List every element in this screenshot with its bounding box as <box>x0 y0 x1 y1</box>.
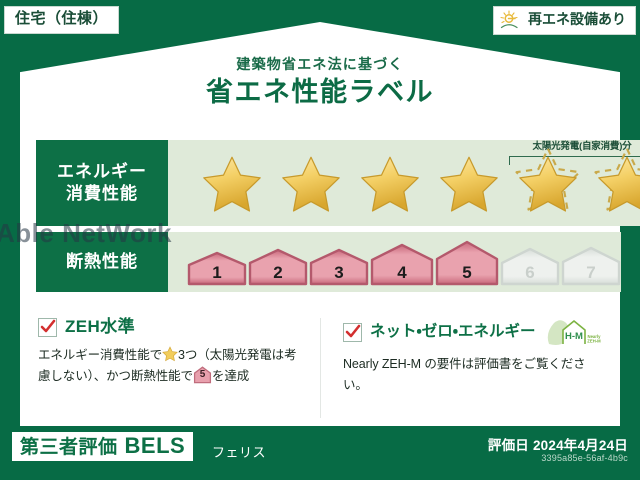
inline-house-number: 5 <box>193 367 212 384</box>
svg-text:ZEH-M: ZEH-M <box>587 339 601 344</box>
star-icon <box>435 153 503 217</box>
energy-label-root: 住宅（住棟） 再エネ設備あり <box>0 0 640 480</box>
bels-jp-label: 第三者評価 <box>20 438 118 457</box>
insulation-performance-label: 断熱性能 <box>36 232 168 292</box>
energy-label-line1: エネルギー <box>57 161 147 183</box>
title-main: 省エネ性能ラベル <box>0 77 640 108</box>
house-step-number: 7 <box>560 263 622 283</box>
zeh-note-head: ZEH水準 <box>38 318 306 337</box>
zeh-body-part3: を達成 <box>212 369 249 383</box>
energy-performance-body: 太陽光発電(自家消費)分 <box>168 140 640 226</box>
energy-performance-label: エネルギー 消費性能 <box>36 140 168 226</box>
bels-en-label: BELS <box>125 435 186 457</box>
notes-section: ZEH水準 エネルギー消費性能で3つ（太陽光発電は考慮しない）、かつ断熱性能で5… <box>20 318 620 418</box>
house-step-number: 6 <box>499 263 561 283</box>
house-step-inactive: 6 <box>499 246 561 286</box>
house-step-number: 2 <box>247 263 309 283</box>
building-type-label: 住宅（住棟） <box>15 10 108 27</box>
inline-star-icon <box>162 346 178 362</box>
nze-note-body: Nearly ZEH-M の要件は評価書をご覧ください。 <box>343 354 606 395</box>
insulation-performance-body: 1234567 <box>168 232 621 292</box>
building-type-badge: 住宅（住棟） <box>4 6 119 34</box>
nze-checkbox <box>343 323 362 342</box>
house-step-active: 3 <box>308 247 370 286</box>
renewable-equipment-badge: 再エネ設備あり <box>493 6 636 35</box>
zeh-m-logo: H-M Nearly ZEH-M <box>546 318 604 346</box>
title-subtitle: 建築物省エネ法に基づく <box>0 56 640 73</box>
star-icon <box>198 153 266 217</box>
house-step-inactive: 7 <box>560 245 622 286</box>
insulation-label-text: 断熱性能 <box>66 251 138 273</box>
svg-text:H-M: H-M <box>565 331 583 342</box>
energy-performance-row: エネルギー 消費性能 太陽光発電(自家消費)分 <box>36 140 604 226</box>
star-rating-strip <box>194 147 640 219</box>
star-filled <box>431 147 507 219</box>
footer: 第三者評価 BELS フェリス 評価日 2024年4月24日 3395a85e-… <box>0 426 640 480</box>
star-icon <box>593 153 640 217</box>
note-zeh-level: ZEH水準 エネルギー消費性能で3つ（太陽光発電は考慮しない）、かつ断熱性能で5… <box>20 318 320 418</box>
note-net-zero-energy: ネット・ゼロ・エネルギー H-M Nearly ZEH-M Nearly ZEH… <box>320 318 620 418</box>
bels-logo-box: 第三者評価 BELS <box>12 432 193 461</box>
renewable-badge-label: 再エネ設備あり <box>528 12 626 27</box>
inline-house-icon: 5 <box>193 366 212 383</box>
house-rating-strip: 1234567 <box>186 238 621 286</box>
header: 住宅（住棟） 再エネ設備あり <box>0 0 640 46</box>
zeh-body-part1: エネルギー消費性能で <box>38 348 162 362</box>
star-solar <box>589 147 640 219</box>
house-step-number: 4 <box>369 263 435 283</box>
evaluation-id: 3395a85e-56af-4b9c <box>541 453 628 463</box>
house-step-active: 1 <box>186 250 248 286</box>
evaluation-date: 評価日 2024年4月24日 <box>488 434 628 454</box>
energy-label-line2: 消費性能 <box>66 183 138 205</box>
zeh-note-title: ZEH水準 <box>65 318 135 337</box>
house-step-active: 2 <box>247 247 309 286</box>
performance-rows: エネルギー 消費性能 太陽光発電(自家消費)分 断熱性能 1234567 <box>36 140 604 292</box>
company-name: フェリス <box>212 442 266 461</box>
house-step-number: 5 <box>434 263 500 283</box>
star-filled <box>352 147 428 219</box>
zeh-checkbox <box>38 318 57 337</box>
star-icon <box>356 153 424 217</box>
zeh-note-body: エネルギー消費性能で3つ（太陽光発電は考慮しない）、かつ断熱性能で5を達成 <box>38 345 306 386</box>
sun-icon <box>500 10 523 30</box>
nze-note-title: ネット・ゼロ・エネルギー <box>370 323 536 340</box>
house-step-number: 3 <box>308 263 370 283</box>
insulation-performance-row: 断熱性能 1234567 <box>36 232 604 292</box>
title-block: 建築物省エネ法に基づく 省エネ性能ラベル <box>0 56 640 108</box>
star-icon <box>514 153 582 217</box>
star-icon <box>277 153 345 217</box>
star-filled <box>194 147 270 219</box>
nze-note-head: ネット・ゼロ・エネルギー H-M Nearly ZEH-M <box>343 318 606 346</box>
house-step-active: 4 <box>369 242 435 286</box>
star-solar <box>510 147 586 219</box>
house-step-active: 5 <box>434 239 500 286</box>
house-step-number: 1 <box>186 263 248 283</box>
star-filled <box>273 147 349 219</box>
